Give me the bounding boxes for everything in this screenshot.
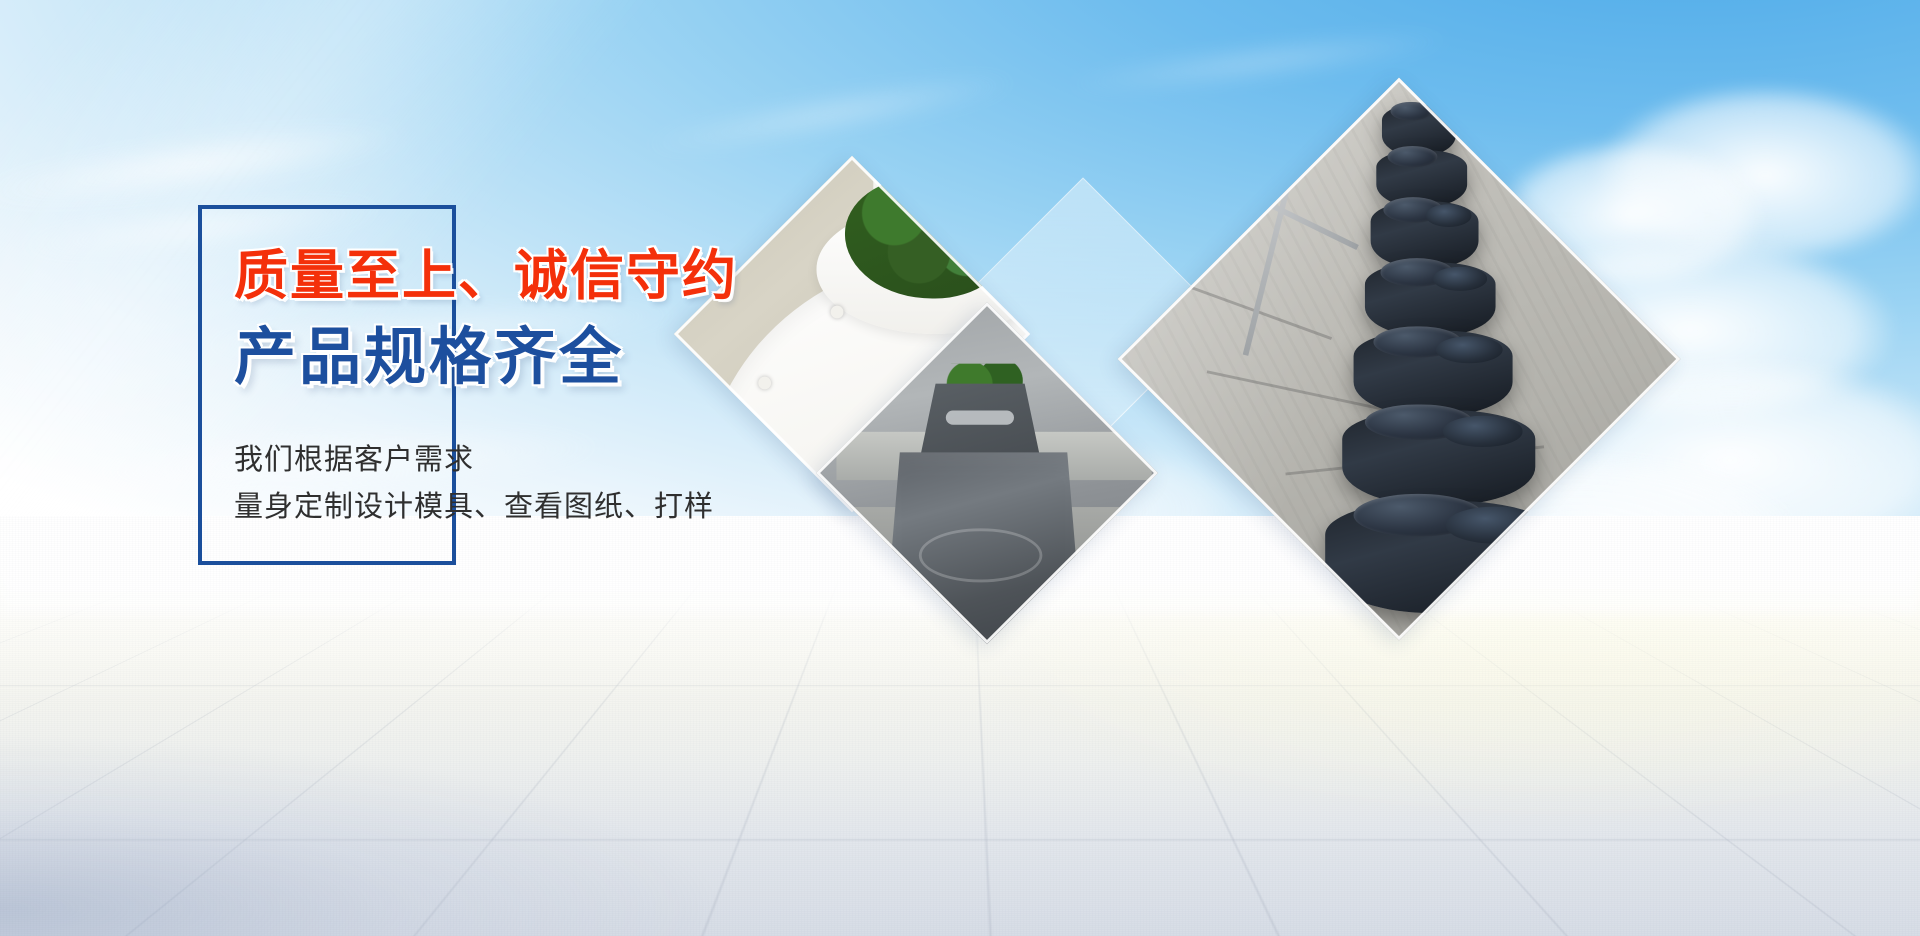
tank-lid-icon (1436, 336, 1502, 363)
tank-lid-icon (1391, 102, 1432, 121)
mould-circle-mark (918, 528, 1042, 583)
tank-lid-icon (1442, 416, 1523, 447)
subtitle-line-2: 量身定制设计模具、查看图纸、打样 (234, 484, 1134, 532)
cirrus-cloud-icon (560, 43, 1100, 184)
cool-shadow-wash (0, 659, 864, 936)
septic-tank (1365, 263, 1495, 336)
headline-group: 质量至上、诚信守约 产品规格齐全 我们根据客户需求 量身定制设计模具、查看图纸、… (234, 248, 1134, 532)
tank-lid-icon (1427, 205, 1472, 227)
subtitle-line-1: 我们根据客户需求 (234, 437, 1134, 485)
subtitle-block: 我们根据客户需求 量身定制设计模具、查看图纸、打样 (234, 437, 1134, 533)
tank-lid-icon (1433, 267, 1488, 290)
septic-tank (1354, 331, 1512, 416)
promo-banner: 质量至上、诚信守约 产品规格齐全 我们根据客户需求 量身定制设计模具、查看图纸、… (0, 0, 1920, 936)
tank-lid-icon (1387, 147, 1438, 168)
headline-secondary: 产品规格齐全 (234, 326, 1134, 390)
warm-light-wash (730, 516, 1920, 936)
septic-tank (1342, 410, 1534, 506)
headline-primary: 质量至上、诚信守约 (234, 248, 1134, 304)
